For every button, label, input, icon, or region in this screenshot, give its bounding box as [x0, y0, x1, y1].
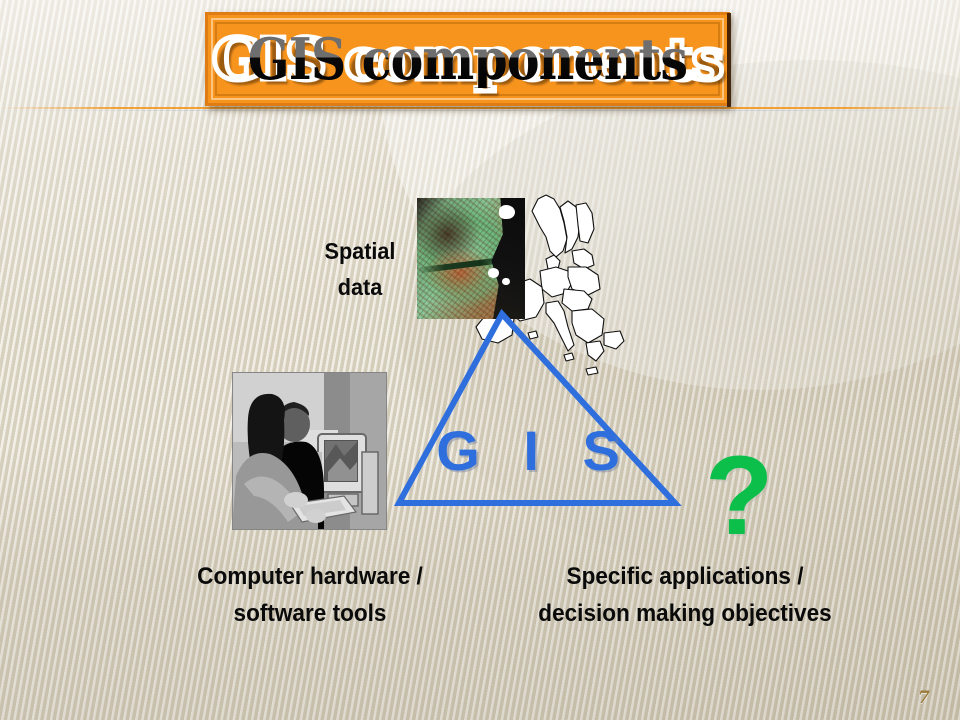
- page-number: 7: [918, 688, 930, 708]
- page-title-text: GIS components: [248, 31, 687, 88]
- label-applications-objectives: Specific applications / decision making …: [516, 558, 854, 632]
- gis-center-label: G I S: [430, 423, 640, 479]
- satellite-image-island-3: [502, 278, 510, 285]
- label-hardware-software: Computer hardware / software tools: [169, 558, 451, 632]
- slide-canvas: GIS components GIS components Spatial da…: [0, 0, 960, 720]
- label-applications-objectives-line-1: Specific applications /: [516, 558, 854, 595]
- label-spatial-data-line-1: Spatial: [304, 234, 417, 270]
- gis-triangle: [385, 300, 690, 515]
- satellite-image-island-2: [488, 268, 499, 278]
- photo-computer-workstation: [232, 372, 387, 530]
- title-underline-rule-secondary: [0, 110, 960, 111]
- label-hardware-software-line-2: software tools: [169, 595, 451, 632]
- label-hardware-software-line-1: Computer hardware /: [169, 558, 451, 595]
- label-spatial-data: Spatial data: [304, 234, 417, 305]
- label-applications-objectives-line-2: decision making objectives: [516, 595, 854, 632]
- satellite-image-island-1: [499, 205, 515, 218]
- question-mark-icon: ?: [705, 440, 773, 552]
- page-title: GIS components GIS components: [205, 12, 730, 106]
- title-underline-rule: [0, 107, 960, 109]
